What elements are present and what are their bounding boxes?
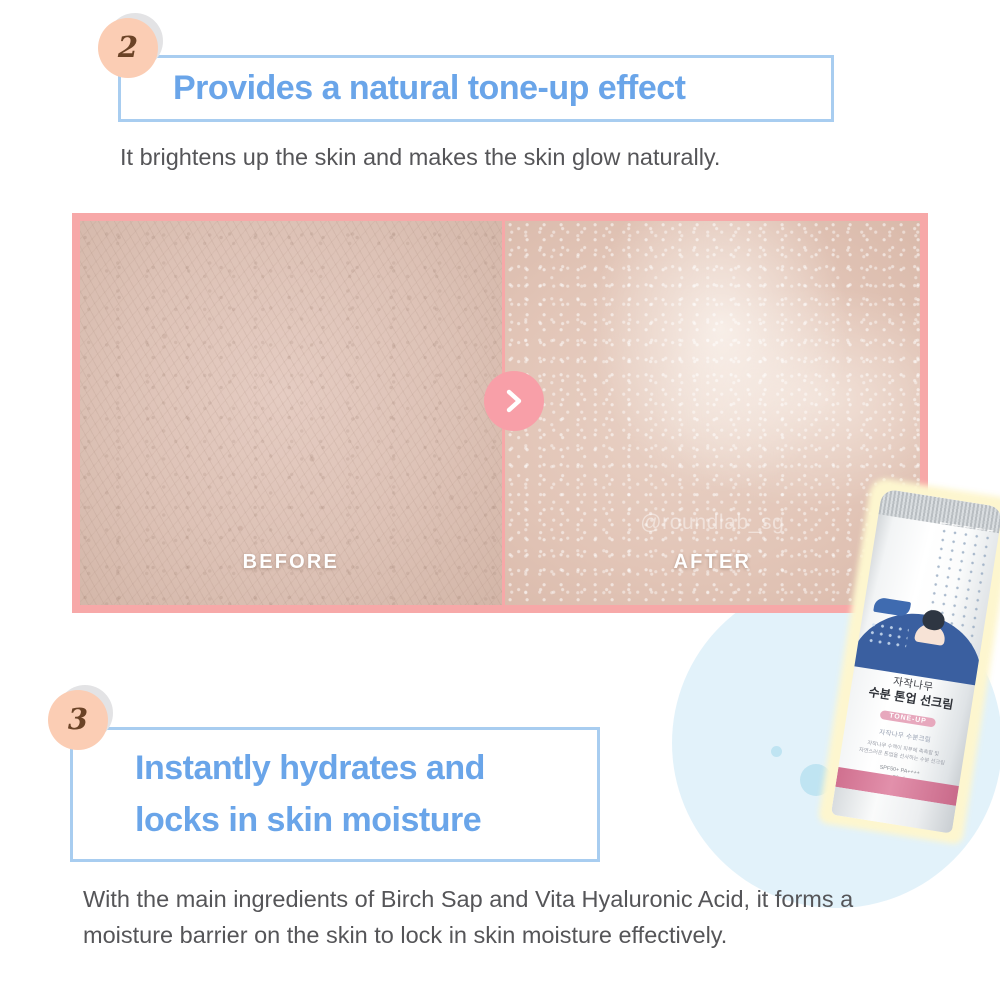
tube-leaf-shape — [873, 597, 911, 617]
badge-circle: 2 — [98, 18, 158, 78]
chevron-right-icon — [484, 371, 544, 431]
badge-number: 3 — [68, 705, 88, 734]
decorative-bubble-small — [771, 746, 782, 757]
section-3-paragraph: With the main ingredients of Birch Sap a… — [83, 882, 873, 953]
badge-circle: 3 — [48, 690, 108, 750]
before-label: BEFORE — [80, 551, 502, 574]
before-panel: BEFORE — [80, 221, 502, 605]
section-2-heading: Provides a natural tone-up effect — [121, 69, 686, 108]
after-panel: @roundlab_sg AFTER — [502, 221, 920, 605]
before-skin-texture — [80, 221, 502, 605]
section-2-heading-box: Provides a natural tone-up effect — [118, 55, 834, 122]
tone-up-badge: TONE-UP — [880, 710, 936, 728]
product-infographic-page: Provides a natural tone-up effect 2 It b… — [0, 0, 1000, 1000]
section-3-heading-line2: locks in skin moisture — [135, 795, 485, 847]
section-2-paragraph: It brightens up the skin and makes the s… — [120, 140, 900, 176]
section-3-heading-box: Instantly hydrates and locks in skin moi… — [70, 727, 600, 862]
badge-number: 2 — [118, 33, 138, 62]
section-3-heading-line1: Instantly hydrates and — [135, 743, 485, 795]
watermark-text: @roundlab_sg — [505, 511, 920, 535]
section-3-heading: Instantly hydrates and locks in skin moi… — [73, 743, 485, 846]
after-skin-texture — [505, 221, 920, 605]
